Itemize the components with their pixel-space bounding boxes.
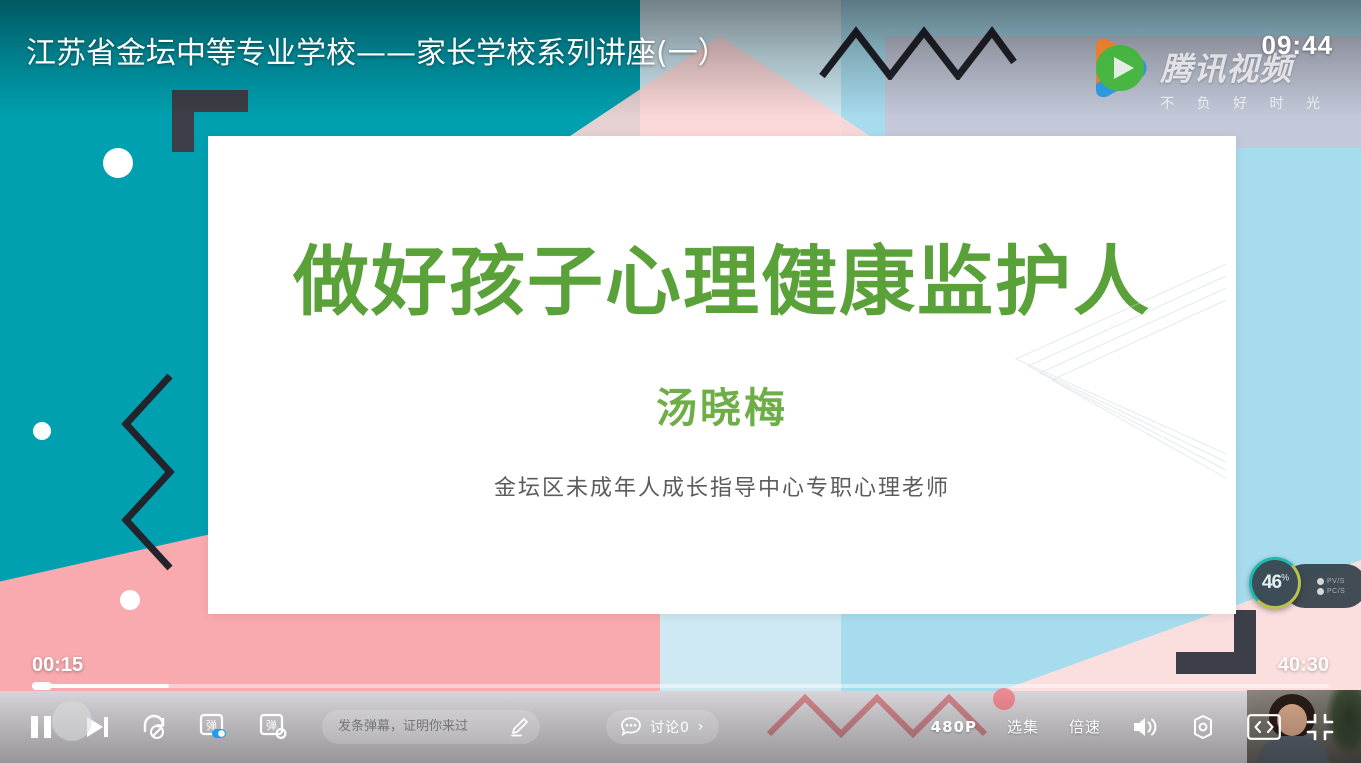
danmaku-style-button[interactable] xyxy=(508,716,530,738)
video-frame: 做好孩子心理健康监护人 汤晓梅 金坛区未成年人成长指导中心专职心理老师 xyxy=(0,0,1361,763)
loop-button[interactable] xyxy=(140,713,168,741)
video-title: 江苏省金坛中等专业学校——家长学校系列讲座(一） xyxy=(26,28,728,72)
duration-label: 40:30 xyxy=(1278,654,1329,677)
zigzag-decoration-icon xyxy=(818,24,1018,80)
progress-bar-handle[interactable] xyxy=(32,682,52,690)
stat-bullet-icon xyxy=(1317,588,1324,595)
stats-percent-dial[interactable]: 46% xyxy=(1249,557,1301,609)
line-decoration-icon xyxy=(996,254,1236,484)
percent-number: 46 xyxy=(1262,572,1281,593)
video-player: 做好孩子心理健康监护人 汤晓梅 金坛区未成年人成长指导中心专职心理老师 江苏省金… xyxy=(0,0,1361,763)
discussion-label: 讨论0 xyxy=(650,717,690,737)
chevron-right-icon: › xyxy=(698,719,705,735)
clock: 09:44 xyxy=(1262,30,1334,61)
slide-presenter-name: 汤晓梅 xyxy=(656,374,788,434)
percent-unit: % xyxy=(1281,573,1288,583)
tencent-play-logo-icon xyxy=(1084,32,1156,104)
pause-icon xyxy=(28,713,54,741)
stats-row: PC/S xyxy=(1317,588,1361,595)
stats-row-label: PV/S xyxy=(1327,578,1345,585)
next-episode-button[interactable] xyxy=(84,714,110,740)
volume-icon xyxy=(1131,714,1159,740)
next-icon xyxy=(84,714,110,740)
pause-button[interactable] xyxy=(28,713,54,741)
comment-bubble-icon xyxy=(620,716,642,738)
corner-bracket-top-left xyxy=(172,90,194,152)
progress-bar-fill xyxy=(32,684,169,688)
exit-fullscreen-button[interactable] xyxy=(1305,712,1335,742)
slide-card: 做好孩子心理健康监护人 汤晓梅 金坛区未成年人成长指导中心专职心理老师 xyxy=(208,136,1236,614)
danmaku-input[interactable] xyxy=(338,719,508,734)
loop-off-icon xyxy=(140,713,168,741)
webcast-code-button[interactable] xyxy=(1247,714,1281,740)
decorative-circle xyxy=(120,590,140,610)
stats-percent-value: 46% xyxy=(1262,572,1288,594)
quality-button[interactable]: 480P xyxy=(931,718,977,736)
episodes-button[interactable]: 选集 xyxy=(1007,716,1039,737)
brush-icon xyxy=(508,716,530,738)
decorative-circle xyxy=(33,422,51,440)
danmaku-input-wrapper[interactable] xyxy=(322,710,540,744)
progress-bar[interactable] xyxy=(32,684,1329,688)
exit-fullscreen-icon xyxy=(1305,712,1335,742)
brand-slogan: 不 负 好 时 光 xyxy=(1160,93,1329,113)
gear-icon xyxy=(1189,713,1217,741)
volume-button[interactable] xyxy=(1131,714,1159,740)
discussion-button[interactable]: 讨论0 › xyxy=(606,710,719,744)
zigzag-decoration-icon xyxy=(118,372,190,577)
danmaku-toggle-button[interactable]: 弹 xyxy=(198,712,228,742)
player-right-controls: 480P 选集 倍速 xyxy=(931,712,1361,742)
stats-row-label: PC/S xyxy=(1327,588,1345,595)
embed-code-icon xyxy=(1247,714,1281,740)
decorative-circle xyxy=(103,148,133,178)
svg-text:弹: 弹 xyxy=(266,718,277,732)
current-time-label: 00:15 xyxy=(32,654,83,677)
corner-bracket-bottom-right xyxy=(1234,610,1256,674)
settings-button[interactable] xyxy=(1189,713,1217,741)
playback-speed-button[interactable]: 倍速 xyxy=(1069,716,1101,737)
danmaku-on-icon: 弹 xyxy=(198,712,228,742)
danmaku-settings-icon: 弹 xyxy=(258,712,288,742)
floating-stats-widget[interactable]: PV/S PC/S 46% xyxy=(1249,557,1301,609)
slide-subtitle: 金坛区未成年人成长指导中心专职心理老师 xyxy=(494,470,950,502)
danmaku-settings-button[interactable]: 弹 xyxy=(258,712,288,742)
stat-bullet-icon xyxy=(1317,578,1324,585)
stats-row: PV/S xyxy=(1317,578,1361,585)
player-control-bar: 弹 弹 xyxy=(0,690,1361,763)
